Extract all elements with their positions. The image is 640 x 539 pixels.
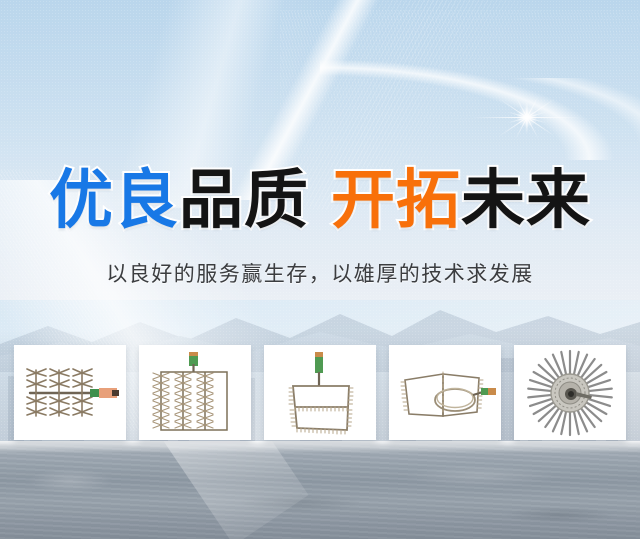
spiked-ladder-rack-icon: [148, 350, 242, 436]
headline-segment-2: 品质: [179, 164, 309, 238]
floor-texture: [0, 441, 640, 539]
product-card-1[interactable]: [14, 345, 126, 440]
product-card-2[interactable]: [139, 345, 251, 440]
product-thumbnail-1: [14, 345, 126, 440]
concrete-floor: [0, 441, 640, 539]
page-subtitle: 以良好的服务赢生存，以雄厚的技术求发展: [0, 259, 640, 289]
headline-segment-3: 开拓: [331, 164, 461, 238]
product-thumbnail-3: [264, 345, 376, 440]
product-thumbnail-2: [139, 345, 251, 440]
comb-rack-heater-icon: [20, 354, 120, 432]
square-frame-rack-icon: [277, 350, 363, 436]
flat-coil-panel-icon: [393, 358, 497, 428]
product-thumbnail-4: [389, 345, 501, 440]
product-card-5[interactable]: [514, 345, 626, 440]
product-thumbnail-strip: [0, 345, 640, 441]
product-card-4[interactable]: [389, 345, 501, 440]
product-thumbnail-5: [514, 345, 626, 440]
product-card-3[interactable]: [264, 345, 376, 440]
page-title: 优良品质 开拓未来: [0, 168, 640, 234]
promo-banner: 优良品质 开拓未来 以良好的服务赢生存，以雄厚的技术求发展: [0, 0, 640, 539]
headline-segment-4: 未来: [461, 164, 591, 238]
floor-highlight: [0, 441, 640, 453]
starburst-disc-icon: [524, 349, 616, 437]
headline-segment-1: 优良: [49, 164, 179, 238]
